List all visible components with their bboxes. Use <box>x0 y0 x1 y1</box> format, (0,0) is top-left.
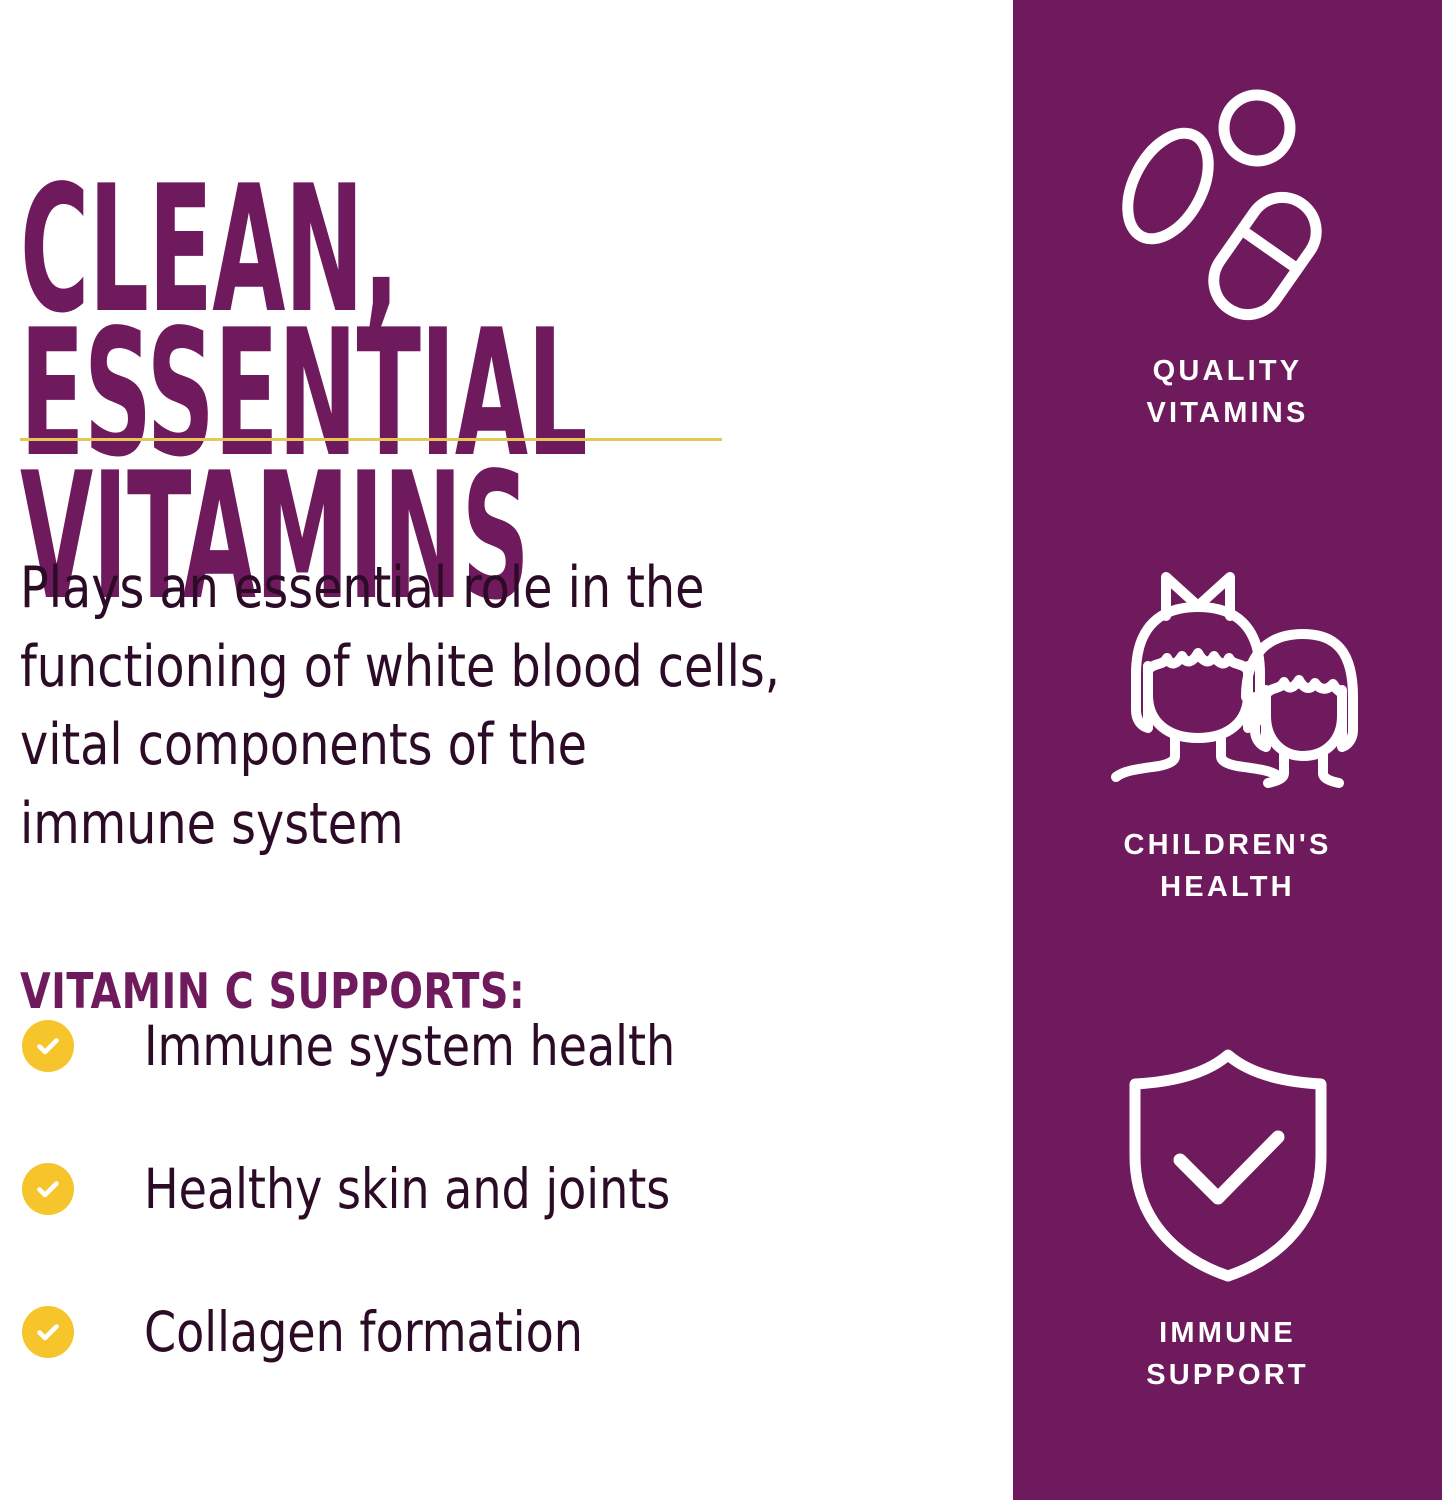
body-paragraph: Plays an essential role in the functioni… <box>20 549 792 864</box>
list-item: Immune system health <box>22 1012 922 1080</box>
sidebar-feature-label: CHILDREN'S HEALTH <box>1123 824 1331 908</box>
list-item-label: Collagen formation <box>144 1305 583 1360</box>
sidebar-feature-quality-vitamins: QUALITY VITAMINS <box>1013 78 1442 434</box>
list-item-label: Healthy skin and joints <box>144 1162 670 1217</box>
children-icon <box>1098 552 1358 802</box>
shield-check-icon <box>1098 1040 1358 1290</box>
gold-divider-rule <box>20 438 722 441</box>
page-title: CLEAN, ESSENTIAL VITAMINS <box>20 179 596 610</box>
sidebar-feature-childrens-health: CHILDREN'S HEALTH <box>1013 552 1442 908</box>
check-circle-icon <box>22 1020 74 1072</box>
list-item: Collagen formation <box>22 1298 922 1366</box>
list-item: Healthy skin and joints <box>22 1155 922 1223</box>
infographic-canvas: CLEAN, ESSENTIAL VITAMINS Plays an essen… <box>0 0 1442 1500</box>
left-content-panel: CLEAN, ESSENTIAL VITAMINS Plays an essen… <box>0 0 1013 1500</box>
pills-icon <box>1098 78 1358 328</box>
sidebar-feature-immune-support: IMMUNE SUPPORT <box>1013 1040 1442 1396</box>
benefits-list: Immune system health Healthy skin and jo… <box>22 1012 922 1441</box>
check-circle-icon <box>22 1163 74 1215</box>
check-circle-icon <box>22 1306 74 1358</box>
sidebar-feature-label: QUALITY VITAMINS <box>1146 350 1308 434</box>
feature-sidebar: QUALITY VITAMINS <box>1013 0 1442 1500</box>
list-item-label: Immune system health <box>144 1019 675 1074</box>
sidebar-feature-label: IMMUNE SUPPORT <box>1146 1312 1309 1396</box>
